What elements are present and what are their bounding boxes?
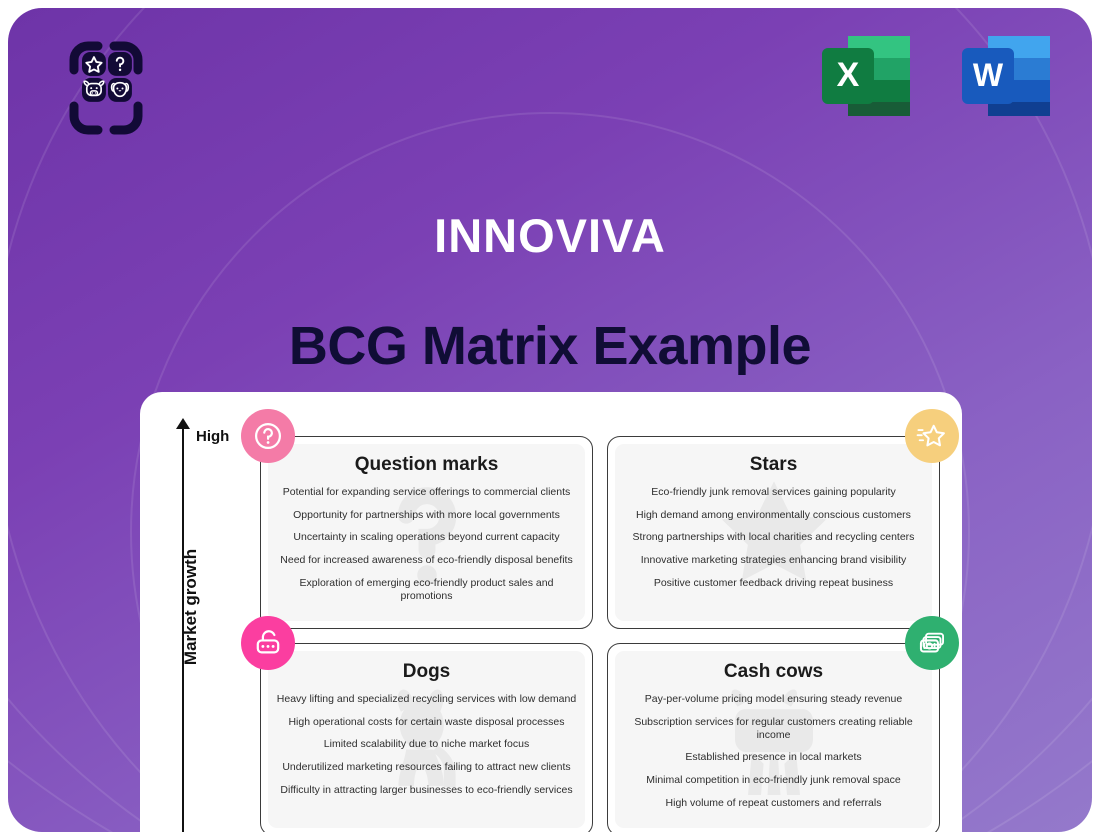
logo-cow-icon [82,78,106,102]
bcg-matrix-panel: High Market growth Question m [140,392,962,832]
quadrant-item: Uncertainty in scaling operations beyond… [276,531,577,544]
quadrant-item: Strong partnerships with local charities… [623,531,924,544]
quadrant-item: High operational costs for certain waste… [276,716,577,729]
quadrant-item: Positive customer feedback driving repea… [623,577,924,590]
slide-canvas: X W INNOVIVA BCG Matrix Example High Mar… [0,0,1100,832]
quadrant-question-marks[interactable]: Question marks Potential for expanding s… [260,436,593,629]
quadrant-item: Established presence in local markets [623,751,924,764]
logo-dog-icon [108,78,132,102]
quadrant-item: Innovative marketing strategies enhancin… [623,554,924,567]
quadrant-item: Eco-friendly junk removal services gaini… [623,486,924,499]
banknotes-badge-icon [905,616,959,670]
office-app-icons: X W [816,28,1056,124]
quadrant-title: Cash cows [623,661,924,683]
y-axis-label: Market growth [181,532,201,682]
quadrant-cash-cows[interactable]: Cash cows Pay-per-volume pricing model e… [607,643,940,832]
padlock-badge-icon [241,616,295,670]
question-mark-badge-icon [241,409,295,463]
axis-tick-high: High [196,428,229,445]
quadrant-item: Underutilized marketing resources failin… [276,761,577,774]
page-title: BCG Matrix Example [0,315,1100,377]
logo-question-icon [108,52,132,76]
quadrant-dogs[interactable]: Dogs Heavy lifting and specialized recyc… [260,643,593,832]
quadrant-grid: Question marks Potential for expanding s… [260,436,940,832]
svg-text:X: X [837,56,860,94]
quadrant-item: Opportunity for partnerships with more l… [276,509,577,522]
brand-name: INNOVIVA [0,208,1100,263]
quadrant-item: Minimal competition in eco-friendly junk… [623,774,924,787]
quadrant-item: Pay-per-volume pricing model ensuring st… [623,693,924,706]
quadrant-item: Limited scalability due to niche market … [276,738,577,751]
quadrant-item: Exploration of emerging eco-friendly pro… [276,577,577,603]
quadrant-title: Question marks [276,454,577,476]
star-badge-icon [905,409,959,463]
quadrant-item: Potential for expanding service offering… [276,486,577,499]
quadrant-stars[interactable]: Stars Eco-friendly junk removal services… [607,436,940,629]
quadrant-item: High demand among environmentally consci… [623,509,924,522]
quadrant-item: Subscription services for regular custom… [623,716,924,742]
brand-logo [44,26,168,150]
quadrant-item: Difficulty in attracting larger business… [276,784,577,797]
quadrant-item: High volume of repeat customers and refe… [623,797,924,810]
quadrant-title: Dogs [276,661,577,683]
quadrant-title: Stars [623,454,924,476]
word-icon[interactable]: W [956,28,1056,124]
svg-text:W: W [973,57,1004,93]
excel-icon[interactable]: X [816,28,916,124]
quadrant-item: Heavy lifting and specialized recycling … [276,693,577,706]
quadrant-item: Need for increased awareness of eco-frie… [276,554,577,567]
